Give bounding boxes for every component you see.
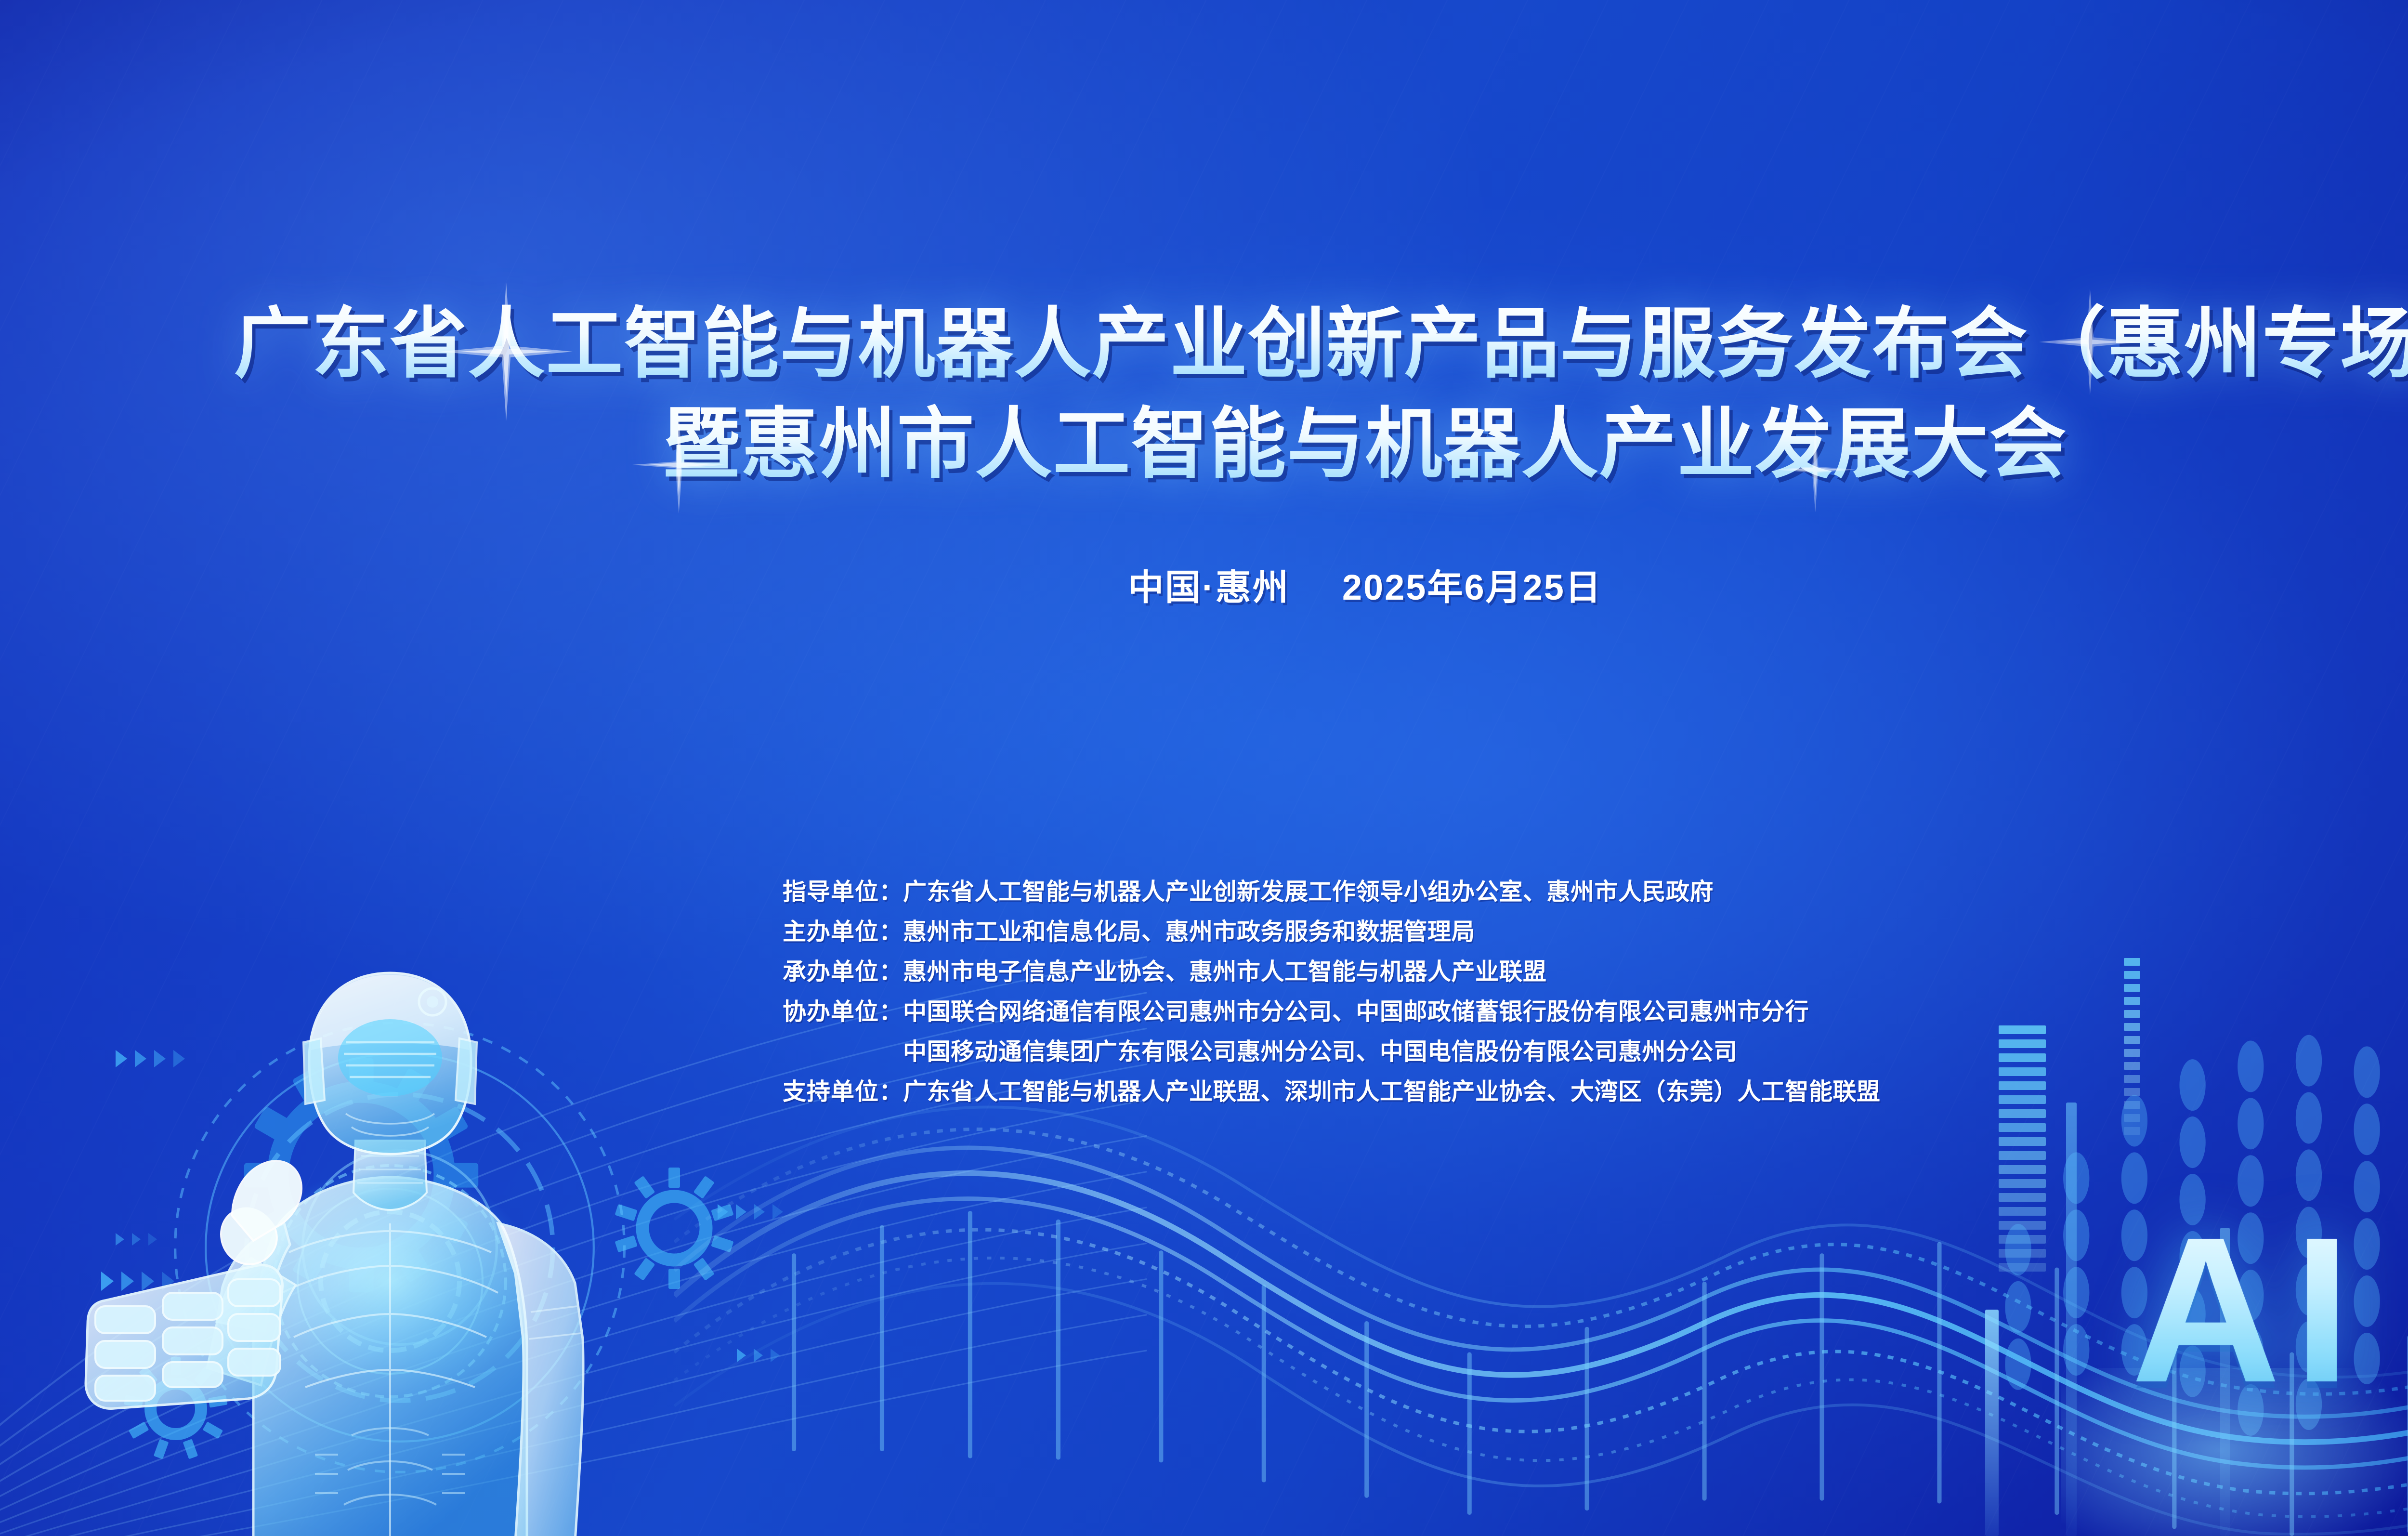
hud-circle-icon xyxy=(144,992,655,1503)
org-row: 指导单位： 广东省人工智能与机器人产业创新发展工作领导小组办公室、惠州市人民政府 xyxy=(783,880,1881,904)
sparkle-icon xyxy=(1763,419,1864,520)
org-value: 惠州市工业和信息化局、惠州市政务服务和数据管理局 xyxy=(903,920,1475,944)
org-row: 协办单位： 中国联合网络通信有限公司惠州市分公司、中国邮政储蓄银行股份有限公司惠… xyxy=(783,1000,1881,1024)
org-label: 主办单位： xyxy=(783,920,903,944)
org-value: 中国联合网络通信有限公司惠州市分公司、中国邮政储蓄银行股份有限公司惠州市分行 xyxy=(903,1000,1809,1024)
organizations-block: 指导单位： 广东省人工智能与机器人产业创新发展工作领导小组办公室、惠州市人民政府… xyxy=(783,880,1881,1120)
chevron-arrows-icon xyxy=(101,1272,174,1291)
event-location: 中国·惠州 xyxy=(1128,567,1290,607)
robot-figure xyxy=(63,934,698,1536)
event-meta: 中国·惠州 2025年6月25日 xyxy=(0,559,2408,610)
diagonal-light-streaks xyxy=(0,0,2408,1536)
gear-icon xyxy=(602,1156,746,1300)
center-glow xyxy=(491,154,2408,1382)
org-label: 承办单位： xyxy=(783,960,903,984)
gear-icon xyxy=(207,1021,515,1329)
ai-wordmark-glow xyxy=(2061,1368,2408,1536)
org-value: 广东省人工智能与机器人产业创新发展工作领导小组办公室、惠州市人民政府 xyxy=(903,880,1714,904)
org-value: 广东省人工智能与机器人产业联盟、深圳市人工智能产业协会、大湾区（东莞）人工智能联… xyxy=(903,1080,1881,1104)
gear-icon xyxy=(116,1349,236,1469)
org-row-continuation: 中国移动通信集团广东有限公司惠州分公司、中国电信股份有限公司惠州分公司 xyxy=(783,1040,1881,1064)
equalizer-bars-icon xyxy=(1922,954,2408,1536)
org-value: 中国移动通信集团广东有限公司惠州分公司、中国电信股份有限公司惠州分公司 xyxy=(903,1040,1738,1064)
ai-wordmark: AI xyxy=(2131,1207,2363,1414)
org-label: 协办单位： xyxy=(783,1000,903,1024)
title-line-1: 广东省人工智能与机器人产业创新产品与服务发布会（惠州专场） xyxy=(0,294,2408,394)
org-row: 承办单位： 惠州市电子信息产业协会、惠州市人工智能与机器人产业联盟 xyxy=(783,960,1881,984)
sparkle-icon xyxy=(2028,284,2148,400)
chevron-arrows-icon xyxy=(737,1349,780,1362)
org-value: 惠州市电子信息产业协会、惠州市人工智能与机器人产业联盟 xyxy=(903,960,1547,984)
chevron-arrows-icon xyxy=(116,1233,157,1246)
org-label: 指导单位： xyxy=(783,880,903,904)
sparkle-icon xyxy=(424,279,583,424)
edge-vignette xyxy=(0,0,2408,1536)
chevron-arrows-icon xyxy=(718,1204,783,1220)
title-line-2: 暨惠州市人工智能与机器人产业发展大会 xyxy=(0,394,2408,494)
org-row: 支持单位： 广东省人工智能与机器人产业联盟、深圳市人工智能产业协会、大湾区（东莞… xyxy=(783,1080,1881,1104)
sparkle-icon xyxy=(621,409,732,520)
top-left-glow xyxy=(0,0,1638,1075)
org-label: 支持单位： xyxy=(783,1080,903,1104)
contour-lines-decor xyxy=(0,737,1147,1536)
event-date: 2025年6月25日 xyxy=(1342,567,1602,607)
dna-wave-icon xyxy=(674,1084,2408,1536)
poster-title-block: 广东省人工智能与机器人产业创新产品与服务发布会（惠州专场） 暨惠州市人工智能与机… xyxy=(0,294,2408,494)
chevron-arrows-icon xyxy=(116,1050,185,1067)
poster-canvas: AI 广东省人工智能与机器人产业创新产品与服务发布会（惠州专场） 暨惠州市人工智… xyxy=(0,0,2408,1536)
dot-mesh-decor xyxy=(1975,963,2408,1536)
org-row: 主办单位： 惠州市工业和信息化局、惠州市政务服务和数据管理局 xyxy=(783,920,1881,944)
